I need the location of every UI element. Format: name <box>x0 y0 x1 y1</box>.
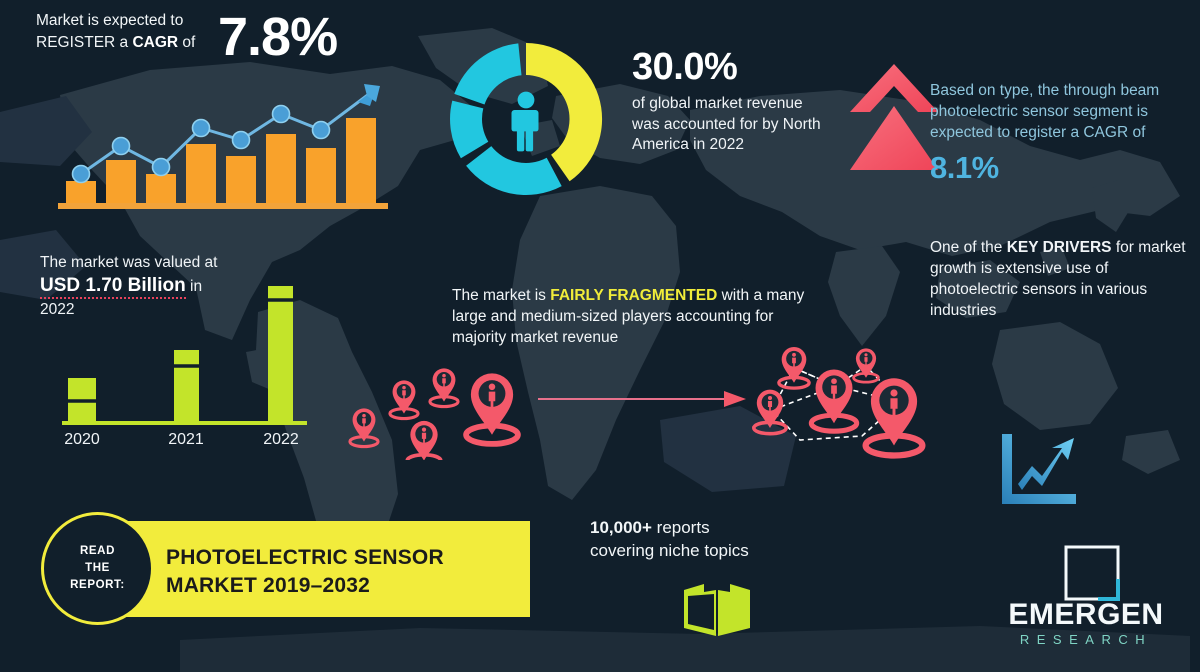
segment-value: 8.1% <box>930 148 1192 188</box>
green-tick-2020: 2020 <box>64 431 100 446</box>
fragmented-pre: The market is <box>452 287 550 304</box>
connected-map-pins-group <box>742 340 942 462</box>
map-pin-icon <box>854 348 879 382</box>
growth-trend-chart <box>58 78 388 210</box>
cagr-value: 7.8% <box>218 6 337 68</box>
key-driver-pre: One of the <box>930 239 1007 256</box>
read-the-report-label: READ THE REPORT: <box>70 543 125 593</box>
cagr-line2-pre: REGISTER a <box>36 34 132 51</box>
map-pin-icon <box>430 368 458 406</box>
open-book-icon <box>680 578 754 640</box>
map-pin-icon <box>390 380 418 418</box>
right-arrow-icon <box>536 386 748 412</box>
map-pin-icon <box>811 369 856 431</box>
key-driver-statement: One of the KEY DRIVERS for market growth… <box>930 238 1196 322</box>
line-chart-growth-icon <box>998 432 1080 506</box>
reports-statement: 10,000+ reports covering niche topics <box>590 516 820 563</box>
map-pin-icon <box>779 347 809 388</box>
map-pin-icon <box>866 378 923 455</box>
green-tick-2021: 2021 <box>168 431 204 446</box>
report-title: PHOTOELECTRIC SENSOR MARKET 2019–2032 <box>166 544 496 600</box>
double-chevron-up-icon <box>848 58 940 178</box>
map-pin-icon <box>350 408 378 446</box>
brand-subtitle: RESEARCH <box>977 632 1195 647</box>
key-driver-bold: KEY DRIVERS <box>1007 239 1112 256</box>
map-pin-icon <box>466 373 518 444</box>
infographic-canvas: Market is expected to REGISTER a CAGR of… <box>0 0 1200 672</box>
reports-line2: covering niche topics <box>590 539 820 562</box>
square-outline-icon <box>1064 545 1120 601</box>
reports-count: 10,000+ <box>590 518 652 537</box>
north-america-share-donut <box>440 28 612 210</box>
market-value-line1: The market was valued at <box>40 252 270 273</box>
map-pin-icon <box>754 390 786 434</box>
segment-statement: Based on type, the through beam photoele… <box>930 80 1192 187</box>
segment-body: Based on type, the through beam photoele… <box>930 80 1192 144</box>
brand-name: EMERGEN <box>977 600 1195 630</box>
cagr-line2-post: of <box>178 34 195 51</box>
cagr-line2-bold: CAGR <box>132 34 178 51</box>
north-america-value: 30.0% <box>632 48 822 88</box>
market-value-chart: 2020 2021 2022 <box>62 278 320 446</box>
reports-count-tail: reports <box>652 518 710 537</box>
scattered-map-pins-group <box>340 348 536 460</box>
green-tick-2022: 2022 <box>263 431 299 446</box>
fragmented-statement: The market is FAIRLY FRAGMENTED with a m… <box>452 285 824 348</box>
read-the-report-badge[interactable]: READ THE REPORT: <box>41 512 154 625</box>
fragmented-highlight: FAIRLY FRAGMENTED <box>550 287 717 304</box>
north-america-body: of global market revenue was accounted f… <box>632 94 822 156</box>
north-america-statement: 30.0% of global market revenue was accou… <box>632 48 822 156</box>
person-icon <box>512 92 539 152</box>
cagr-line1: Market is expected to <box>36 12 183 29</box>
map-pin-icon <box>407 421 440 460</box>
